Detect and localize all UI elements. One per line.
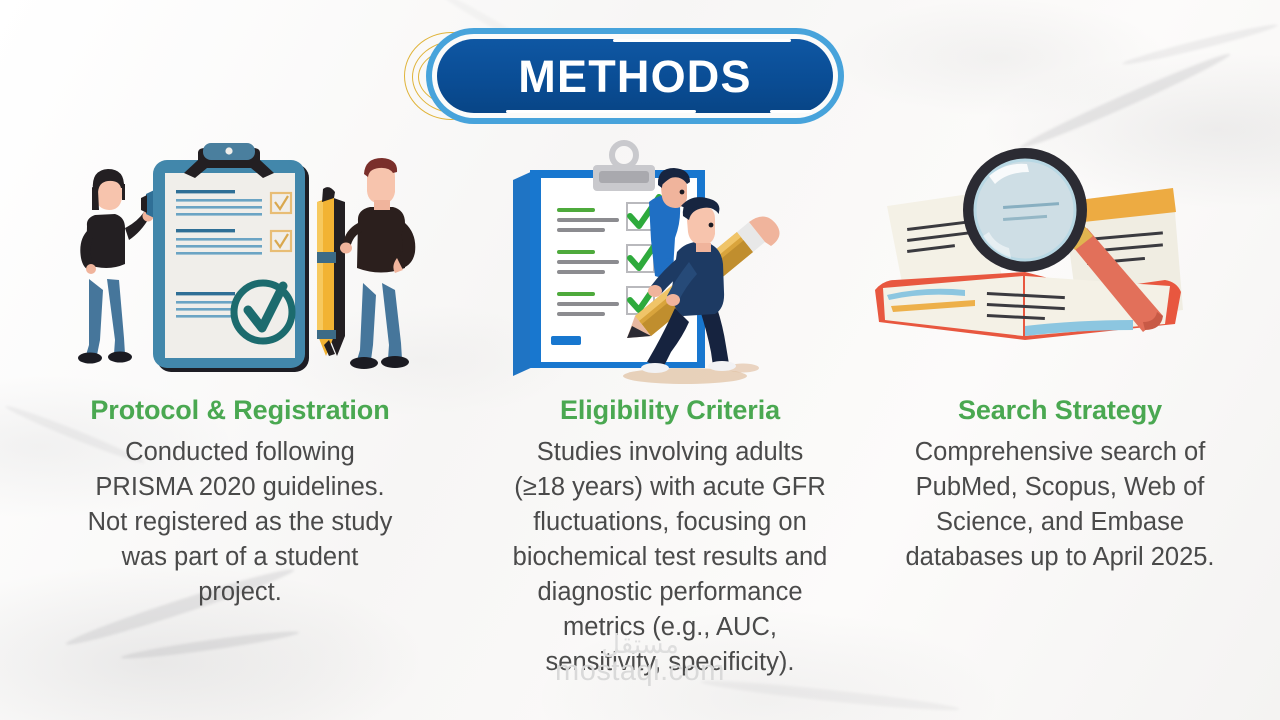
column-heading-search: Search Strategy (865, 395, 1255, 426)
title-pill-body: METHODS (437, 39, 833, 113)
title-highlight-bottom-right (770, 110, 812, 113)
column-protocol-registration: Protocol & Registration Conducted follow… (45, 140, 435, 610)
column-body-eligibility: Studies involving adults (≥18 years) wit… (475, 435, 865, 680)
clipboard-clip-icon (593, 143, 655, 191)
slide-title-banner: METHODS (398, 22, 868, 132)
magnifying-glass-books-illustration (865, 140, 1255, 385)
column-heading-protocol: Protocol & Registration (45, 395, 435, 426)
page-title: METHODS (518, 54, 751, 99)
column-body-protocol: Conducted following PRISMA 2020 guidelin… (45, 435, 435, 610)
checklist-board-illustration (475, 140, 865, 385)
column-heading-eligibility: Eligibility Criteria (475, 395, 865, 426)
title-highlight-bottom (506, 110, 696, 113)
clipboard-icon (153, 143, 309, 372)
man-standing-icon (340, 158, 415, 369)
magnifying-glass-icon (963, 148, 1087, 272)
column-search-strategy: Search Strategy Comprehensive search of … (865, 140, 1255, 575)
title-highlight-top (613, 39, 791, 42)
column-body-search: Comprehensive search of PubMed, Scopus, … (865, 435, 1255, 575)
slide-canvas: METHODS (0, 0, 1280, 720)
column-eligibility-criteria: Eligibility Criteria Studies involving a… (475, 140, 865, 680)
clipboard-checklist-illustration (45, 140, 435, 385)
pen-icon (317, 187, 345, 356)
